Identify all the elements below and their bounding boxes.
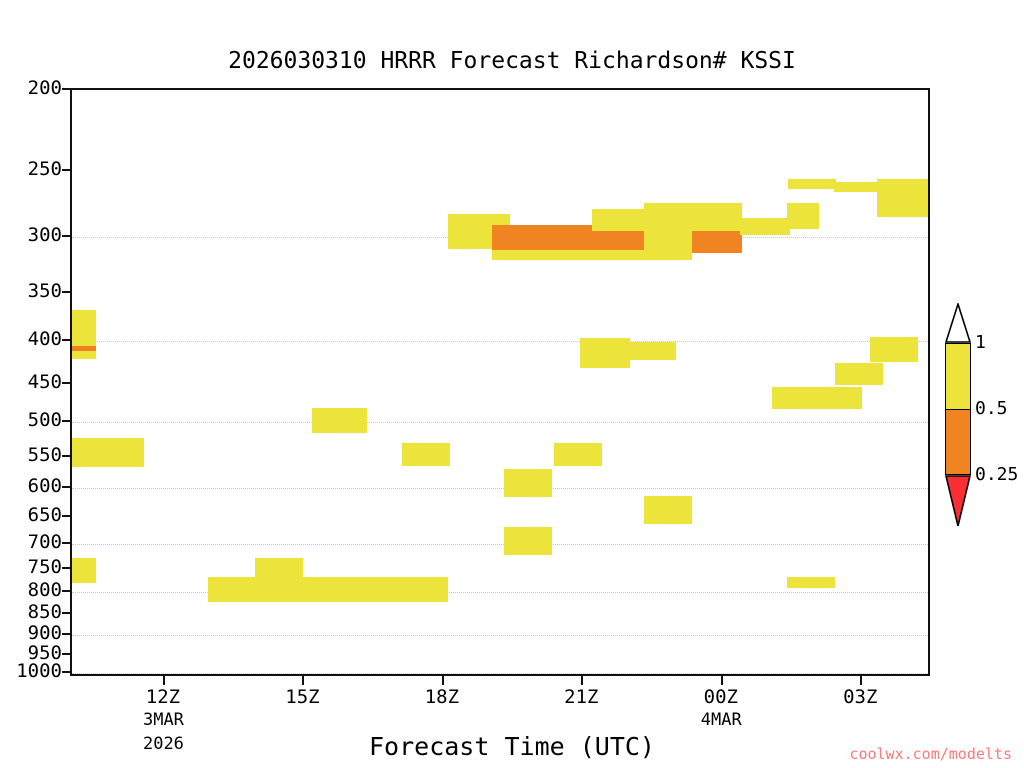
y-tick-mark [62,542,71,544]
y-tick-mark [62,633,71,635]
x-tick-mark [581,676,583,685]
gridline [72,422,928,424]
colorbar-band-orange [945,409,971,475]
y-tick-label: 650 [28,506,62,525]
x-tick-mark [860,676,862,685]
y-tick-mark [62,420,71,422]
heatmap-cell [402,443,450,466]
gridline [72,341,928,343]
heatmap-cell [504,469,552,497]
y-tick-mark [62,235,71,237]
heatmap-cell [255,558,303,578]
gridline [72,592,928,594]
heatmap-cell [72,438,144,467]
y-tick-mark [62,515,71,517]
y-tick-label: 550 [28,446,62,465]
y-tick-label: 600 [28,477,62,496]
x-tick-mark [302,676,304,685]
heatmap-cell [312,408,367,433]
heatmap-cell [208,577,448,602]
y-tick-mark [62,291,71,293]
heatmap-cell [692,231,742,253]
y-axis: 2002503003504004505005506006507007508008… [0,0,62,768]
y-tick-mark [62,382,71,384]
colorbar-legend: 10.50.25 [945,303,971,475]
x-tick-label: 12Z [146,686,180,708]
page-title: 2026030310 HRRR Forecast Richardson# KSS… [0,48,1024,74]
plot-area [70,88,930,676]
colorbar-arrow-up [945,303,971,343]
y-tick-mark [62,169,71,171]
y-tick-mark [62,88,71,90]
y-tick-mark [62,612,71,614]
gridline [72,544,928,546]
y-tick-mark [62,455,71,457]
heatmap-cell [787,577,835,588]
x-tick-label: 18Z [425,686,459,708]
y-tick-label: 250 [28,160,62,179]
heatmap-cell [554,443,602,466]
heatmap-cell [788,179,836,189]
y-tick-label: 200 [28,79,62,98]
y-tick-label: 900 [28,624,62,643]
y-tick-mark [62,671,71,673]
heatmap-cell [835,363,883,385]
heatmap-cell [72,558,96,583]
heatmap-cell [787,203,819,229]
x-tick-mark [721,676,723,685]
heatmap-cell [504,527,552,555]
x-tick-sublabel: 4MAR [701,710,742,730]
x-tick-mark [163,676,165,685]
x-tick-label: 03Z [843,686,877,708]
x-tick-sublabel: 2026 [143,734,184,754]
y-tick-label: 850 [28,603,62,622]
colorbar-band-yellow [945,343,971,409]
x-tick-sublabel: 3MAR [143,710,184,730]
x-tick-label: 21Z [564,686,598,708]
heatmap-cell [72,351,96,359]
heatmap-cell [877,179,930,217]
colorbar-tick-label: 0.5 [975,400,1008,418]
heatmap-cell [740,218,790,235]
y-tick-label: 500 [28,411,62,430]
x-tick-label: 00Z [704,686,738,708]
y-tick-label: 350 [28,282,62,301]
y-tick-mark [62,590,71,592]
gridline [72,635,928,637]
y-tick-label: 1000 [16,662,62,681]
heatmap-canvas [72,90,928,674]
y-tick-label: 800 [28,581,62,600]
colorbar-arrow-down [945,475,971,527]
heatmap-cell [772,387,862,409]
heatmap-cell [580,338,630,368]
gridline [72,673,928,675]
y-tick-label: 700 [28,533,62,552]
colorbar-tick-label: 0.25 [975,466,1018,484]
colorbar-tick-label: 1 [975,334,986,352]
watermark: coolwx.com/modelts [849,745,1012,763]
y-tick-mark [62,339,71,341]
y-tick-mark [62,486,71,488]
heatmap-cell [628,342,676,360]
y-tick-label: 450 [28,373,62,392]
y-tick-mark [62,653,71,655]
x-tick-mark [442,676,444,685]
y-tick-label: 400 [28,330,62,349]
y-tick-label: 750 [28,558,62,577]
y-tick-mark [62,567,71,569]
heatmap-cell [870,337,918,362]
heatmap-cell [644,496,692,524]
y-tick-label: 300 [28,226,62,245]
x-tick-label: 15Z [285,686,319,708]
gridline [72,488,928,490]
